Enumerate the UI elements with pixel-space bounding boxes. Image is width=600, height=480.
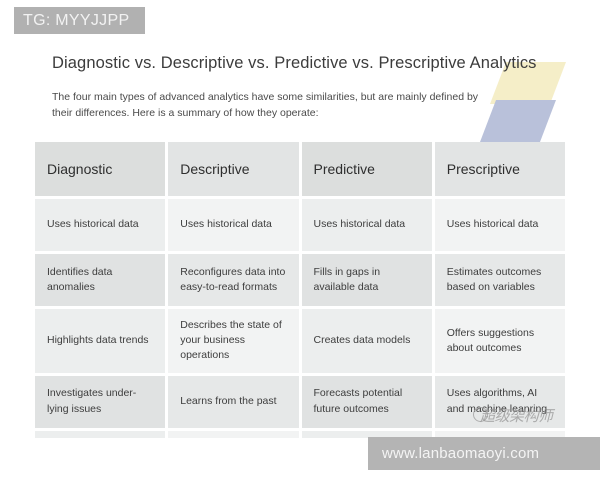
column-header-predictive: Predictive: [302, 142, 432, 196]
card-header: Diagnostic vs. Descriptive vs. Predictiv…: [32, 38, 568, 122]
table-row: Highlights data trends Describes the sta…: [35, 309, 565, 373]
table-row: Investigates under-lying issues Learns f…: [35, 376, 565, 428]
card-subtitle: The four main types of advanced analytic…: [52, 89, 492, 122]
page-title: Diagnostic vs. Descriptive vs. Predictiv…: [52, 54, 548, 73]
table-header-row: Diagnostic Descriptive Predictive Prescr…: [35, 142, 565, 196]
column-header-descriptive: Descriptive: [168, 142, 298, 196]
cell-diagnostic-1: Uses historical data: [35, 199, 165, 251]
site-url-banner: www.lanbaomaoyi.com: [368, 437, 600, 470]
cell-descriptive-5: Answer "What" Questions: [168, 431, 298, 438]
column-header-diagnostic: Diagnostic: [35, 142, 165, 196]
tg-overlay-banner: TG: MYYJJPP: [14, 7, 145, 34]
cell-prescriptive-1: Uses historical data: [435, 199, 565, 251]
table-header-row-group: Diagnostic Descriptive Predictive Prescr…: [35, 142, 565, 196]
column-header-prescriptive: Prescriptive: [435, 142, 565, 196]
cell-prescriptive-4: Uses algorithms, AI and machine leanring: [435, 376, 565, 428]
cell-diagnostic-3: Highlights data trends: [35, 309, 165, 373]
cell-predictive-3: Creates data models: [302, 309, 432, 373]
cell-descriptive-1: Uses historical data: [168, 199, 298, 251]
cell-diagnostic-2: Identifies data anomalies: [35, 254, 165, 306]
cell-diagnostic-4: Investigates under-lying issues: [35, 376, 165, 428]
site-url-text: www.lanbaomaoyi.com: [382, 445, 539, 462]
analytics-card: Diagnostic vs. Descriptive vs. Predictiv…: [32, 38, 568, 438]
cell-predictive-1: Uses historical data: [302, 199, 432, 251]
cell-predictive-4: Forecasts potential future outcomes: [302, 376, 432, 428]
cell-diagnostic-5: Answers "Why" Questions: [35, 431, 165, 438]
table-row: Uses historical data Uses historical dat…: [35, 199, 565, 251]
cell-descriptive-4: Learns from the past: [168, 376, 298, 428]
cell-descriptive-3: Describes the state of your business ope…: [168, 309, 298, 373]
cell-prescriptive-3: Offers suggestions about outcomes: [435, 309, 565, 373]
table-row: Identifies data anomalies Reconfigures d…: [35, 254, 565, 306]
tg-overlay-text: TG: MYYJJPP: [23, 12, 129, 30]
cell-predictive-2: Fills in gaps in available data: [302, 254, 432, 306]
table-body: Uses historical data Uses historical dat…: [35, 199, 565, 438]
cell-prescriptive-2: Estimates outcomes based on variables: [435, 254, 565, 306]
analytics-comparison-table: Diagnostic Descriptive Predictive Prescr…: [32, 139, 568, 438]
cell-descriptive-2: Reconfigures data into easy-to-read form…: [168, 254, 298, 306]
